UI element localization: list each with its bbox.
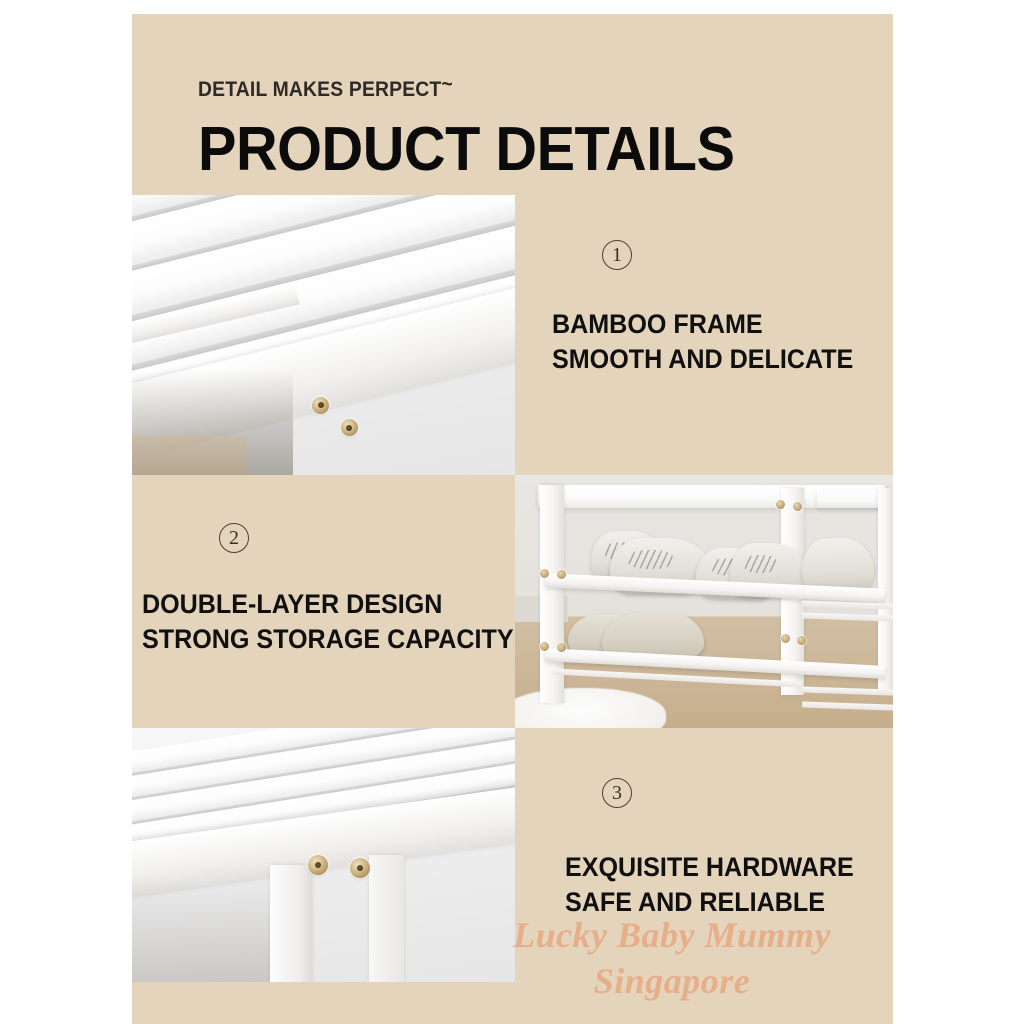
feature-block-2: 2 DOUBLE-LAYER DESIGN STRONG STORAGE CAP… bbox=[132, 475, 515, 656]
rack-brass-screw bbox=[793, 502, 802, 511]
brass-screw bbox=[312, 397, 329, 414]
header-block: DETAIL MAKES PERPECT~ PRODUCT DETAILS bbox=[198, 74, 878, 181]
rack-brass-screw bbox=[557, 570, 566, 579]
feature-number-3: 3 bbox=[602, 778, 632, 808]
feature-row-2: 2 DOUBLE-LAYER DESIGN STRONG STORAGE CAP… bbox=[132, 475, 893, 728]
slat-scene bbox=[132, 195, 515, 475]
feature-caption-1-line1: BAMBOO FRAME bbox=[552, 307, 869, 342]
eyebrow-label: DETAIL MAKES PERPECT bbox=[198, 78, 441, 101]
floor-rug bbox=[515, 688, 666, 728]
feature-number-1: 1 bbox=[602, 240, 632, 270]
product-detail-infographic: DETAIL MAKES PERPECT~ PRODUCT DETAILS bbox=[0, 0, 1024, 1024]
rack-brass-screw bbox=[540, 642, 549, 651]
content-panel: DETAIL MAKES PERPECT~ PRODUCT DETAILS bbox=[132, 14, 893, 1024]
eyebrow-text: DETAIL MAKES PERPECT~ bbox=[198, 74, 824, 100]
shoe-rack-photo bbox=[515, 475, 893, 728]
sneaker-laces bbox=[628, 550, 673, 569]
room-scene bbox=[515, 475, 893, 728]
feature-photo-1 bbox=[132, 195, 515, 475]
bamboo-slat-photo bbox=[132, 195, 515, 475]
feature-block-1: 1 BAMBOO FRAME SMOOTH AND DELICATE bbox=[515, 195, 893, 376]
brass-screw bbox=[350, 858, 370, 878]
page-title: PRODUCT DETAILS bbox=[198, 119, 830, 181]
hardware-closeup-photo bbox=[132, 728, 515, 982]
rack-brass-screw bbox=[540, 569, 549, 578]
feature-caption-1: BAMBOO FRAME SMOOTH AND DELICATE bbox=[552, 307, 869, 376]
feature-number-2: 2 bbox=[219, 523, 249, 553]
rack-brass-screw bbox=[557, 643, 566, 652]
feature-photo-2 bbox=[515, 475, 893, 728]
feature-caption-1-line2: SMOOTH AND DELICATE bbox=[552, 342, 869, 377]
feature-caption-2-line2: STRONG STORAGE CAPACITY bbox=[142, 622, 489, 657]
bench-leg-back bbox=[369, 855, 403, 982]
shelf-slat bbox=[802, 701, 893, 710]
sneaker-laces bbox=[744, 555, 777, 573]
feature-photo-3 bbox=[132, 728, 515, 982]
bench-leg bbox=[270, 865, 312, 982]
rack-brass-screw bbox=[797, 636, 806, 645]
feature-row-1: 1 BAMBOO FRAME SMOOTH AND DELICATE bbox=[132, 195, 893, 475]
feature-block-3: 3 EXQUISITE HARDWARE SAFE AND RELIABLE bbox=[515, 728, 893, 919]
feature-caption-2: DOUBLE-LAYER DESIGN STRONG STORAGE CAPAC… bbox=[142, 587, 489, 656]
tilde-glyph: ~ bbox=[441, 73, 452, 96]
brass-screw bbox=[341, 419, 358, 436]
feature-caption-3-line1: EXQUISITE HARDWARE bbox=[565, 850, 870, 885]
floor-strip bbox=[132, 436, 247, 475]
feature-text-1: 1 BAMBOO FRAME SMOOTH AND DELICATE bbox=[515, 195, 893, 475]
slat-scene bbox=[132, 728, 515, 982]
feature-text-2: 2 DOUBLE-LAYER DESIGN STRONG STORAGE CAP… bbox=[132, 475, 515, 728]
feature-caption-3-line2: SAFE AND RELIABLE bbox=[565, 885, 870, 920]
brass-screw bbox=[308, 855, 328, 875]
feature-caption-3: EXQUISITE HARDWARE SAFE AND RELIABLE bbox=[565, 850, 870, 919]
feature-row-3: 3 EXQUISITE HARDWARE SAFE AND RELIABLE bbox=[132, 728, 893, 982]
feature-caption-2-line1: DOUBLE-LAYER DESIGN bbox=[142, 587, 489, 622]
shadow-area bbox=[132, 875, 270, 982]
feature-text-3: 3 EXQUISITE HARDWARE SAFE AND RELIABLE bbox=[515, 728, 893, 982]
